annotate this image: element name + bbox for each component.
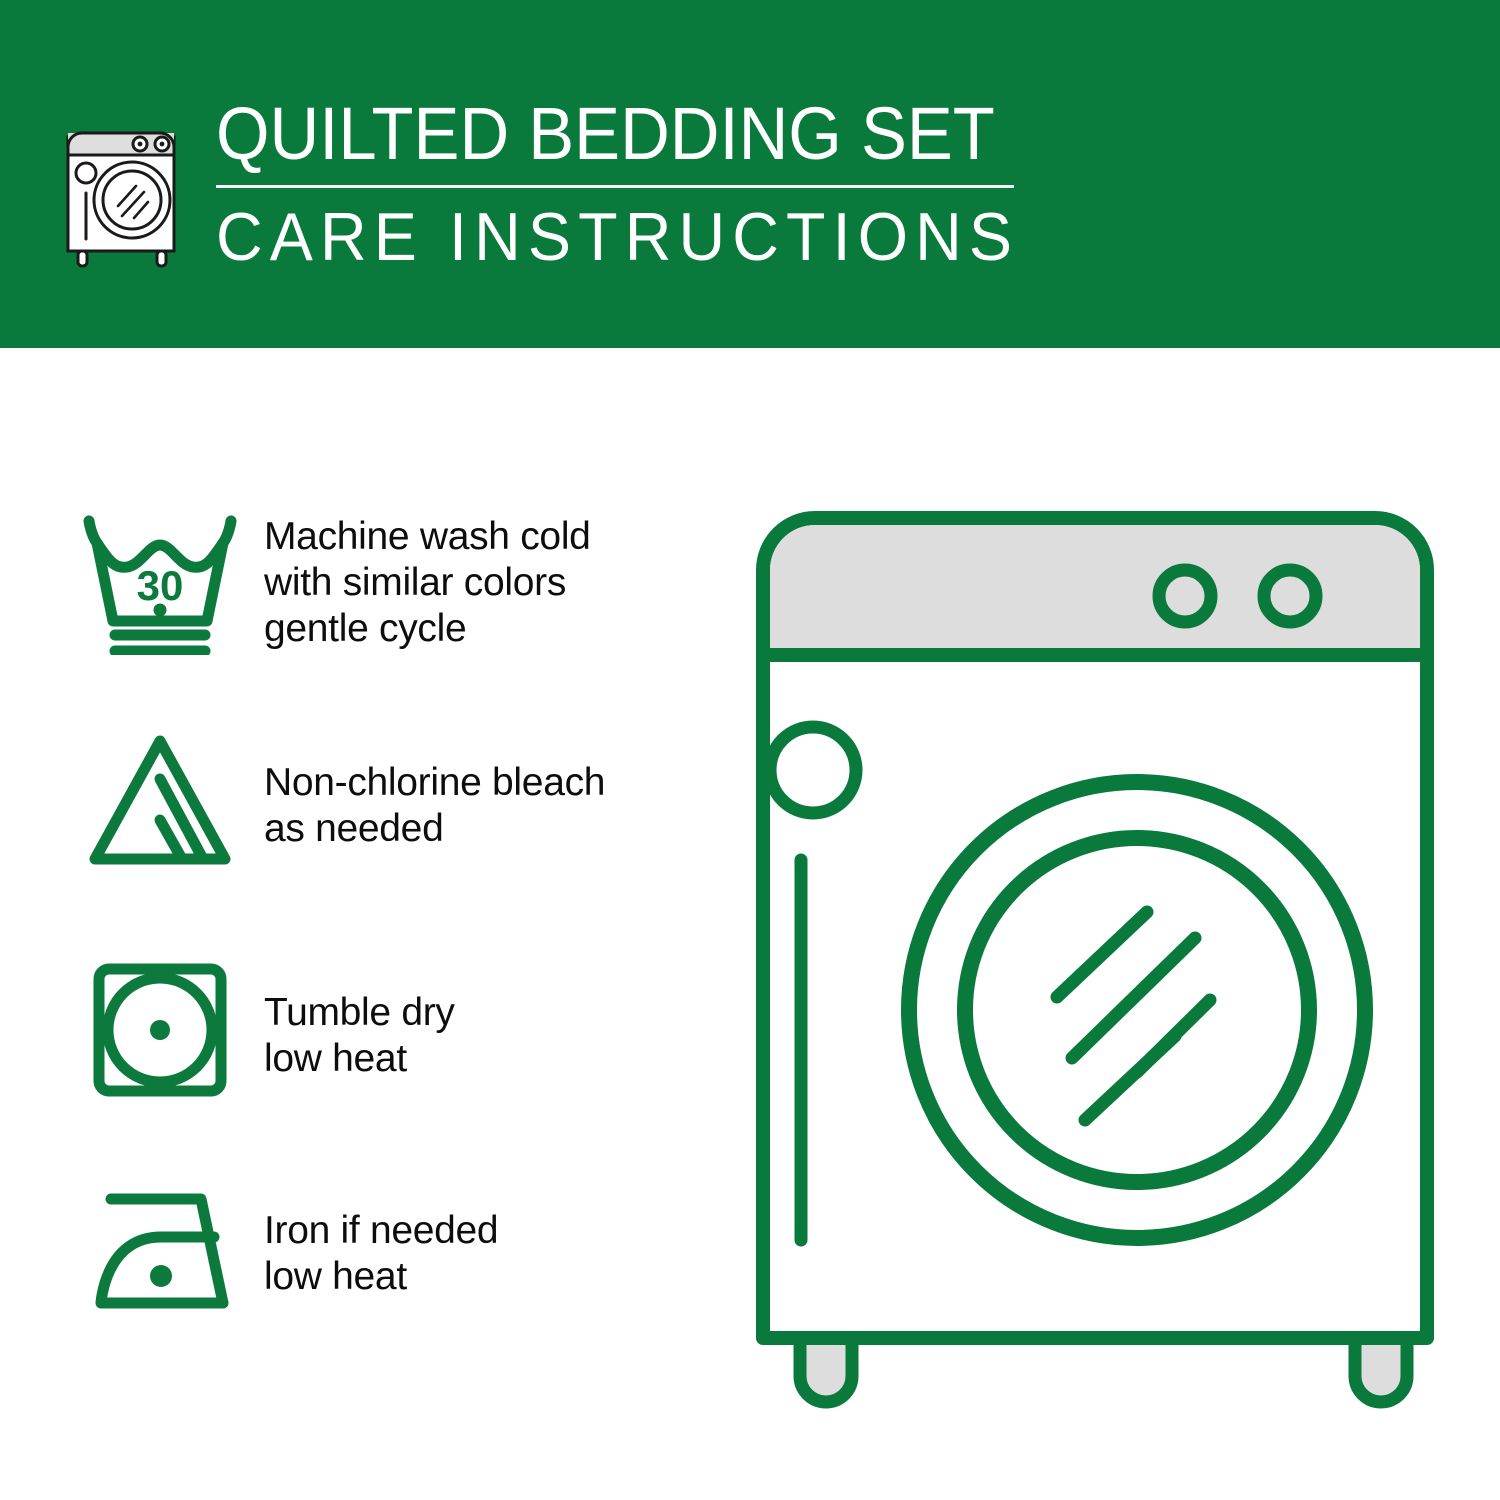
label-line-2: as needed bbox=[264, 806, 710, 852]
wash-temperature-value: 30 bbox=[137, 562, 184, 609]
label-line-1: Non-chlorine bleach bbox=[264, 760, 710, 806]
label-line-2: with similar colors bbox=[264, 560, 710, 606]
list-item: Tumble dry low heat bbox=[70, 952, 710, 1170]
washing-machine-icon bbox=[60, 103, 192, 271]
detergent-cap bbox=[770, 727, 856, 813]
list-item-label: Machine wash cold with similar colors ge… bbox=[250, 500, 710, 652]
care-instruction-list: 30 Machine wash cold with similar colors… bbox=[70, 500, 710, 1395]
label-line-2: low heat bbox=[264, 1036, 710, 1082]
page-subtitle: CARE INSTRUCTIONS bbox=[216, 200, 1019, 274]
label-line-3: gentle cycle bbox=[264, 606, 710, 652]
tumble-dry-low-icon bbox=[70, 952, 250, 1112]
title-divider bbox=[216, 185, 1014, 188]
header-content: QUILTED BEDDING SET CARE INSTRUCTIONS bbox=[60, 95, 1061, 274]
label-line-1: Tumble dry bbox=[264, 990, 710, 1036]
header-banner: QUILTED BEDDING SET CARE INSTRUCTIONS bbox=[0, 0, 1500, 348]
list-item-label: Iron if needed low heat bbox=[250, 1170, 710, 1300]
page-title: QUILTED BEDDING SET bbox=[216, 95, 1002, 173]
list-item: Non-chlorine bleach as needed bbox=[70, 722, 710, 952]
list-item-label: Tumble dry low heat bbox=[250, 952, 710, 1082]
knob-right bbox=[1264, 570, 1316, 622]
label-line-1: Machine wash cold bbox=[264, 514, 710, 560]
machine-wash-30-gentle-icon: 30 bbox=[70, 500, 250, 660]
list-item: 30 Machine wash cold with similar colors… bbox=[70, 500, 710, 722]
knob-left bbox=[1159, 570, 1211, 622]
header-titles: QUILTED BEDDING SET CARE INSTRUCTIONS bbox=[216, 95, 1061, 274]
list-item-label: Non-chlorine bleach as needed bbox=[250, 722, 710, 852]
label-line-1: Iron if needed bbox=[264, 1208, 710, 1254]
drum-door-inner-ring bbox=[965, 838, 1309, 1182]
iron-low-heat-icon bbox=[70, 1170, 250, 1330]
list-item: Iron if needed low heat bbox=[70, 1170, 710, 1395]
front-load-washing-machine-illustration bbox=[745, 500, 1445, 1430]
non-chlorine-bleach-icon bbox=[70, 722, 250, 882]
label-line-2: low heat bbox=[264, 1254, 710, 1300]
